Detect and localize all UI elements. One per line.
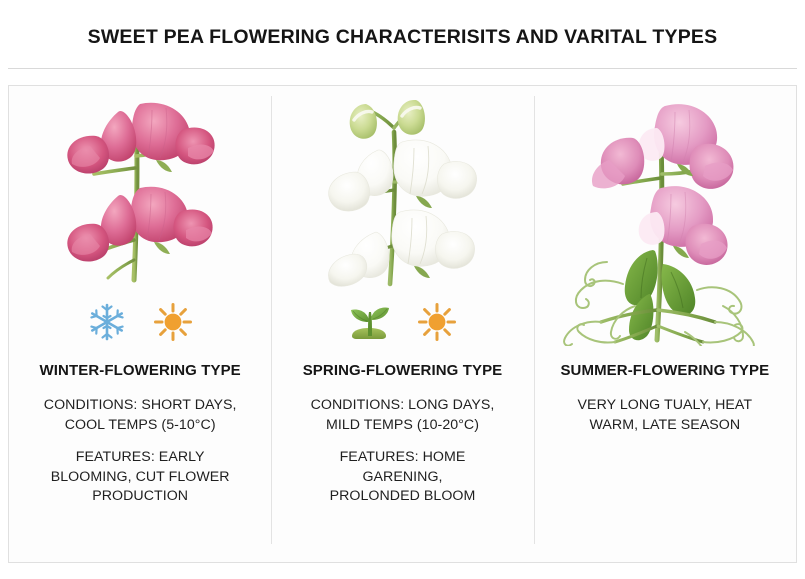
column-winter-flowering: WINTER-FLOWERING TYPE CONDITIONS: SHORT … <box>9 86 271 562</box>
description-line: CONDITIONS: SHORT DAYS,COOL TEMPS (5-10°… <box>19 396 261 435</box>
snowflake-icon <box>87 302 127 342</box>
column-description-winter: CONDITIONS: SHORT DAYS,COOL TEMPS (5-10°… <box>19 396 261 507</box>
sun-icon <box>153 302 193 342</box>
description-line: CONDITIONS: LONG DAYS,MILD TEMPS (10-20°… <box>281 396 523 435</box>
pink-sweet-pea-illustration <box>19 86 261 291</box>
light-pink-sweet-pea-illustration <box>544 86 786 291</box>
icon-row-spring <box>347 291 457 353</box>
column-description-spring: CONDITIONS: LONG DAYS,MILD TEMPS (10-20°… <box>281 396 523 507</box>
column-heading-spring: SPRING-FLOWERING TYPE <box>303 362 503 379</box>
title-bar: SWEET PEA FLOWERING CHARACTERISITS AND V… <box>0 0 805 68</box>
title-divider <box>8 68 797 69</box>
description-line: VERY LONG TUALY, HEATWARM, LATE SEASON <box>544 396 786 435</box>
white-sweet-pea-illustration <box>281 86 523 291</box>
column-heading-winter: WINTER-FLOWERING TYPE <box>40 362 241 379</box>
description-line: FEATURES: EARLYBLOOMING, CUT FLOWERPRODU… <box>19 448 261 507</box>
comparison-panel: WINTER-FLOWERING TYPE CONDITIONS: SHORT … <box>8 85 797 563</box>
column-heading-summer: SUMMER-FLOWERING TYPE <box>560 362 769 379</box>
column-summer-flowering: SUMMER-FLOWERING TYPE VERY LONG TUALY, H… <box>534 86 796 562</box>
description-line: FEATURES: HOMEGARENING,PROLONDED BLOOM <box>281 448 523 507</box>
icon-row-winter <box>87 291 193 353</box>
column-spring-flowering: SPRING-FLOWERING TYPE CONDITIONS: LONG D… <box>271 86 533 562</box>
sprout-icon <box>347 302 391 342</box>
sun-icon <box>417 302 457 342</box>
page-title: SWEET PEA FLOWERING CHARACTERISITS AND V… <box>88 26 718 49</box>
column-description-summer: VERY LONG TUALY, HEATWARM, LATE SEASON <box>544 396 786 435</box>
